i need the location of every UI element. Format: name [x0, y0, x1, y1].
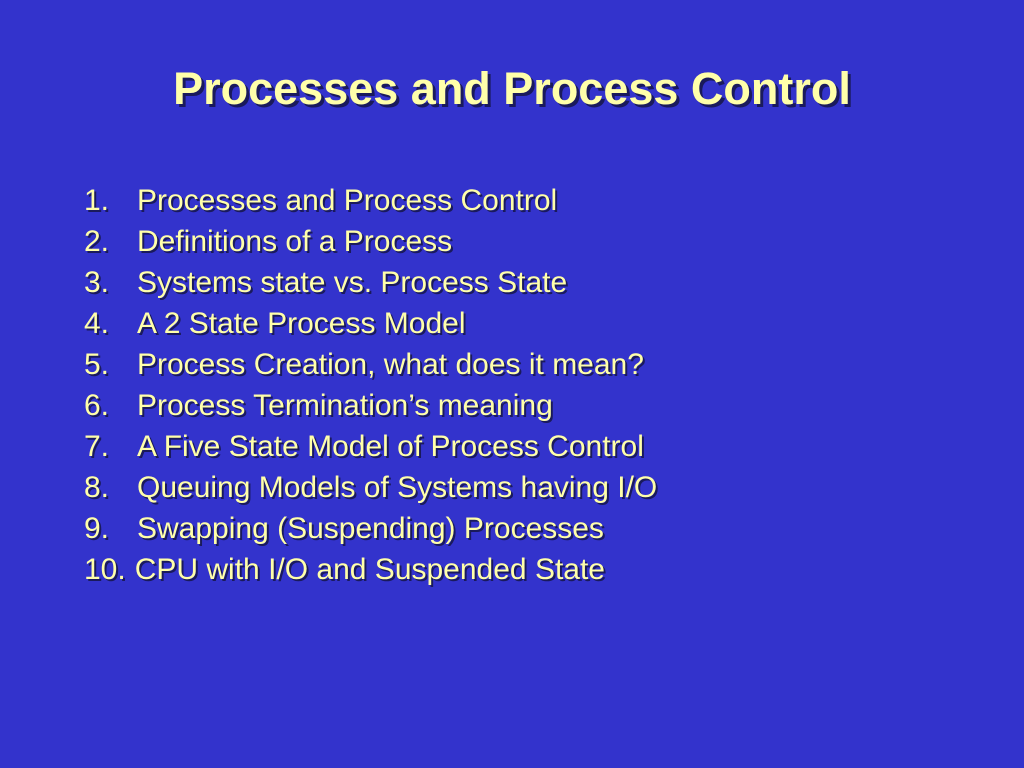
presentation-slide: Processes and Process Control 1. Process…	[0, 0, 1024, 768]
list-item: 1. Processes and Process Control	[84, 180, 964, 221]
list-item: 10. CPU with I/O and Suspended State	[84, 549, 964, 590]
page-title: Processes and Process Control	[0, 63, 1024, 115]
list-item-number: 1.	[84, 180, 137, 221]
list-item-number: 9.	[84, 508, 137, 549]
list-item-label: Process Termination’s meaning	[137, 385, 553, 426]
list-item-label: Queuing Models of Systems having I/O	[137, 467, 657, 508]
list-item: 6. Process Termination’s meaning	[84, 385, 964, 426]
list-item: 5. Process Creation, what does it mean?	[84, 344, 964, 385]
agenda-list: 1. Processes and Process Control 2. Defi…	[84, 180, 964, 590]
list-item-number: 8.	[84, 467, 137, 508]
list-item-label: CPU with I/O and Suspended State	[135, 549, 605, 590]
list-item-label: Systems state vs. Process State	[137, 262, 567, 303]
list-item-label: Swapping (Suspending) Processes	[137, 508, 604, 549]
list-item-label: Processes and Process Control	[137, 180, 557, 221]
list-item-label: A Five State Model of Process Control	[137, 426, 644, 467]
list-item-label: A 2 State Process Model	[137, 303, 466, 344]
list-item-number: 3.	[84, 262, 137, 303]
list-item-number: 4.	[84, 303, 137, 344]
list-item-number: 7.	[84, 426, 137, 467]
list-item-label: Process Creation, what does it mean?	[137, 344, 644, 385]
list-item: 9. Swapping (Suspending) Processes	[84, 508, 964, 549]
list-item: 3. Systems state vs. Process State	[84, 262, 964, 303]
list-item: 4. A 2 State Process Model	[84, 303, 964, 344]
list-item-number: 6.	[84, 385, 137, 426]
list-item-number: 10.	[84, 549, 135, 590]
list-item-number: 2.	[84, 221, 137, 262]
list-item: 2. Definitions of a Process	[84, 221, 964, 262]
list-item-label: Definitions of a Process	[137, 221, 452, 262]
list-item-number: 5.	[84, 344, 137, 385]
list-item: 8. Queuing Models of Systems having I/O	[84, 467, 964, 508]
list-item: 7. A Five State Model of Process Control	[84, 426, 964, 467]
